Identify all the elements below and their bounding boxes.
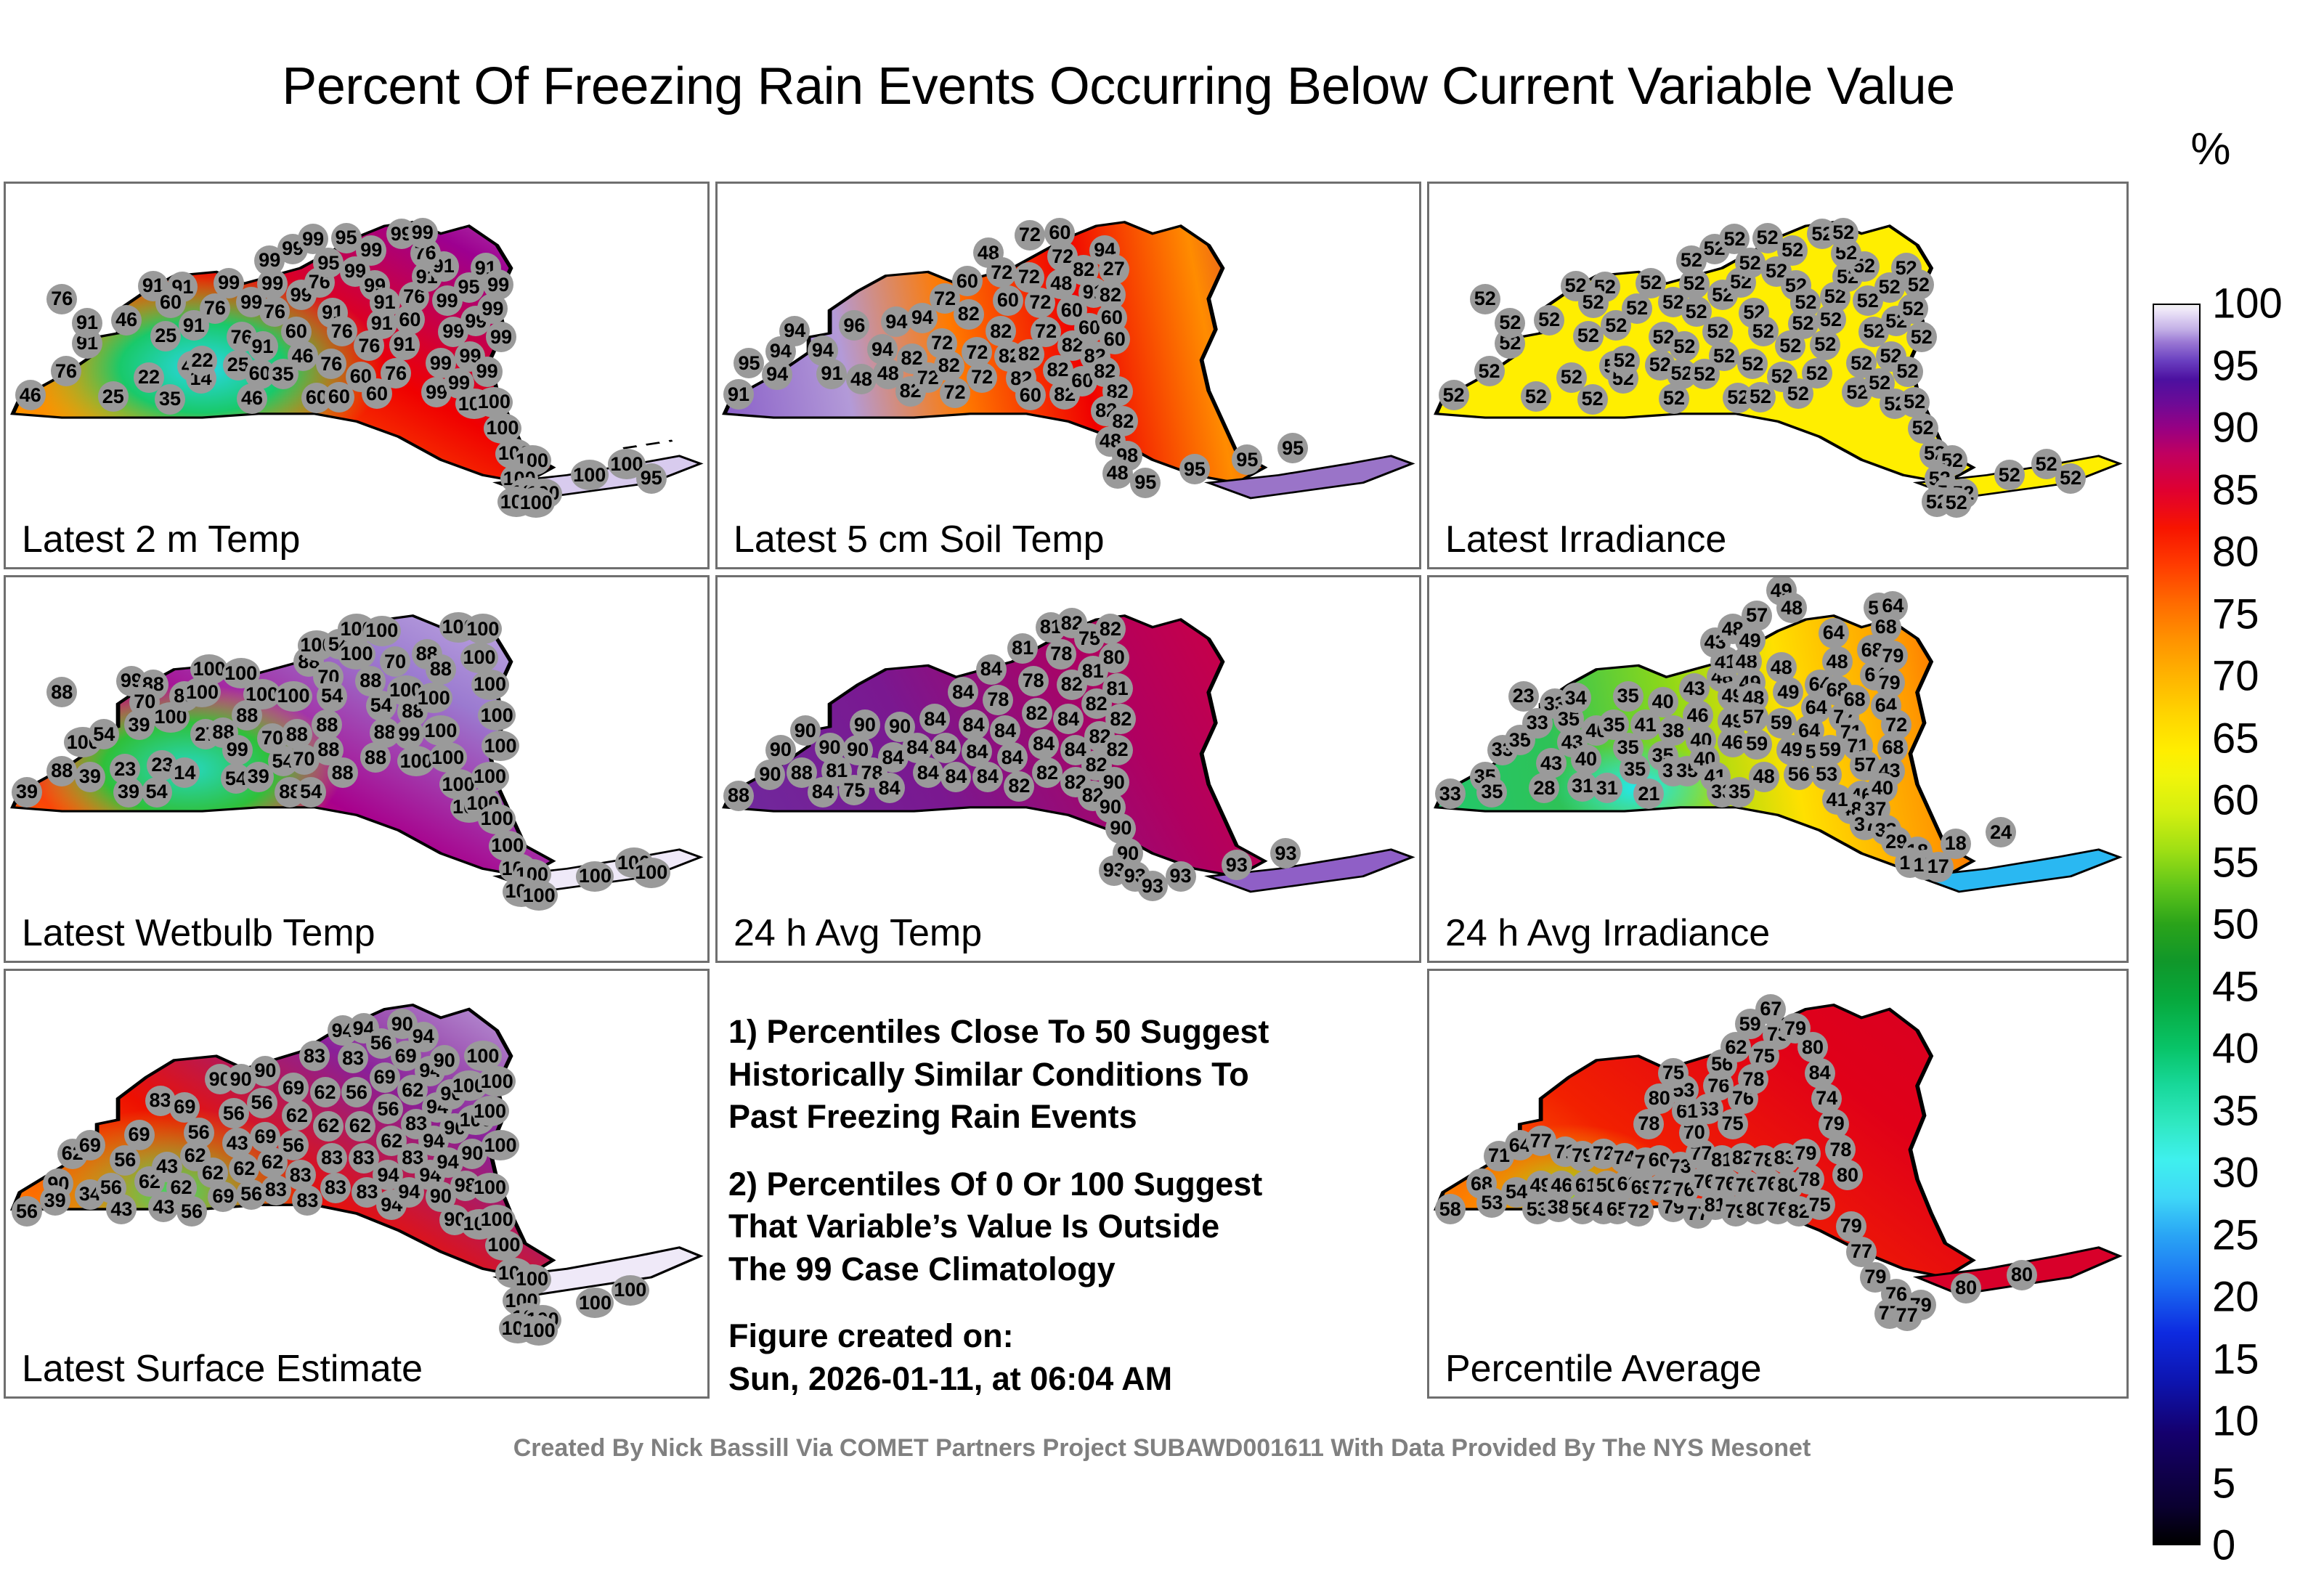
colorbar-unit-label: %: [2167, 123, 2254, 175]
map-canvas: 5868715364547749537146387961567250437463…: [1429, 971, 2126, 1396]
station-marker: 70: [380, 646, 410, 677]
colorbar-tick-0: 0: [2212, 1521, 2235, 1570]
station-marker: 76: [46, 284, 77, 314]
station-marker: 25: [150, 321, 181, 351]
station-marker: 59: [1766, 708, 1797, 739]
station-marker: 43: [106, 1194, 137, 1224]
station-marker: 84: [948, 677, 978, 707]
station-marker: 99: [486, 322, 516, 352]
station-marker: 94: [408, 1022, 439, 1052]
notes-block: 1) Percentiles Close To 50 Suggest Histo…: [728, 1011, 1411, 1400]
station-marker: 52: [1719, 224, 1750, 254]
station-marker: 52: [1748, 316, 1779, 346]
panel-label-latest-5cm-soil-temp: Latest 5 cm Soil Temp: [734, 518, 1105, 561]
station-marker: 84: [930, 733, 961, 763]
station-marker: 78: [1633, 1109, 1664, 1139]
station-marker: 100: [464, 614, 502, 644]
station-marker: 84: [972, 762, 1003, 792]
station-marker: 80: [1099, 643, 1129, 673]
station-marker: 84: [997, 742, 1028, 773]
station-marker: 100: [482, 731, 519, 761]
colorbar-tick-100: 100: [2212, 280, 2283, 328]
map-canvas: 8890908890849081759090788484908484848484…: [718, 577, 1419, 961]
station-marker: 100: [478, 804, 516, 834]
station-marker: 83: [292, 1185, 322, 1216]
station-marker: 17: [1923, 852, 1954, 882]
station-marker: 56: [341, 1077, 372, 1107]
station-marker: 77: [1892, 1301, 1922, 1331]
station-marker: 79: [1877, 640, 1908, 671]
station-marker: 100: [517, 487, 555, 518]
station-marker: 100: [471, 1096, 509, 1126]
station-marker: 52: [1577, 384, 1608, 415]
station-marker: 82: [1022, 698, 1052, 728]
panel-latest-wetbulb-temp: 3988100885439233939542314998870100882710…: [4, 575, 710, 963]
station-marker: 54: [142, 777, 172, 808]
station-marker: 43: [1679, 673, 1710, 704]
colorbar-tick-50: 50: [2212, 900, 2259, 949]
station-marker: 52: [1775, 330, 1805, 361]
station-marker: 99: [407, 218, 438, 248]
station-marker: 100: [482, 1130, 519, 1160]
station-marker: 93: [1222, 850, 1252, 880]
station-marker: 52: [1898, 293, 1928, 324]
station-marker: 68: [1871, 612, 1901, 643]
station-marker: 56: [219, 1098, 249, 1128]
station-marker: 62: [282, 1100, 312, 1131]
station-marker: 62: [345, 1111, 375, 1142]
station-marker: 56: [12, 1196, 42, 1227]
station-marker: 91: [248, 331, 278, 362]
station-marker: 52: [1709, 341, 1739, 371]
colorbar-tick-25: 25: [2212, 1211, 2259, 1259]
station-marker: 52: [1941, 487, 1972, 518]
colorbar-tick-30: 30: [2212, 1149, 2259, 1197]
station-marker: 75: [1805, 1189, 1835, 1220]
station-marker: 52: [2055, 463, 2086, 494]
colorbar-tick-45: 45: [2212, 962, 2259, 1011]
station-marker: 100: [471, 670, 509, 700]
station-marker: 48: [846, 364, 877, 394]
station-marker: 94: [779, 316, 810, 346]
station-marker: 80: [1832, 1160, 1863, 1190]
station-marker: 33: [1435, 778, 1466, 809]
panel-label-latest-wetbulb-temp: Latest Wetbulb Temp: [22, 911, 375, 955]
station-marker: 52: [1669, 331, 1699, 362]
station-marker: 82: [934, 351, 964, 381]
panel-latest-surface-estimate: 5690623969345643566962434362568369566262…: [4, 969, 710, 1399]
station-marker: 35: [155, 384, 185, 415]
station-marker: 60: [993, 285, 1023, 316]
station-marker: 100: [478, 1066, 516, 1097]
station-marker: 68: [1840, 685, 1870, 715]
station-marker: 60: [1100, 324, 1130, 354]
colorbar-tick-85: 85: [2212, 465, 2259, 514]
station-marker: 99: [394, 719, 424, 749]
station-marker: 100: [415, 683, 452, 713]
station-marker: 60: [952, 266, 983, 296]
station-marker: 100: [485, 1230, 523, 1261]
station-marker: 91: [72, 308, 102, 338]
page-title: Percent Of Freezing Rain Events Occurrin…: [0, 57, 2237, 116]
panel-24h-avg-temp: 8890908890849081759090788484908484848484…: [715, 575, 1421, 963]
station-marker: 78: [983, 685, 1013, 715]
station-marker: 82: [1095, 614, 1126, 644]
station-marker: 59: [1742, 729, 1772, 760]
station-marker: 100: [429, 742, 467, 773]
station-marker: 100: [576, 1288, 614, 1318]
station-marker: 95: [1130, 468, 1161, 498]
station-marker: 72: [940, 378, 970, 408]
colorbar-gradient: [2153, 304, 2201, 1545]
station-marker: 95: [1179, 454, 1210, 484]
station-marker: 56: [373, 1094, 403, 1124]
station-marker: 39: [113, 777, 144, 808]
station-marker: 22: [187, 346, 217, 376]
station-marker: 88: [426, 654, 456, 685]
station-marker: 100: [520, 1315, 558, 1346]
panel-24h-avg-irradiance: 3335333535233343283335433440314031353535…: [1427, 575, 2129, 963]
station-marker: 88: [360, 742, 391, 773]
station-marker: 72: [1015, 220, 1045, 251]
map-canvas: 9195949494949148969448828272949472827272…: [718, 184, 1419, 567]
panel-label-24h-avg-irradiance: 24 h Avg Irradiance: [1445, 911, 1770, 955]
station-marker: 76: [51, 356, 81, 386]
station-marker: 90: [429, 1045, 460, 1075]
station-marker: 52: [1676, 245, 1707, 276]
station-marker: 95: [734, 348, 764, 378]
station-marker: 69: [208, 1181, 238, 1212]
map-canvas: 3988100885439233939542314998870100882710…: [6, 577, 707, 961]
station-marker: 100: [571, 460, 609, 490]
station-marker: 82: [1105, 704, 1136, 734]
station-marker: 23: [1508, 681, 1539, 712]
colorbar-tick-5: 5: [2212, 1459, 2235, 1508]
map-canvas: 5252525252525252525252525252525252525252…: [1429, 184, 2126, 567]
station-marker: 94: [762, 359, 792, 390]
station-marker: 95: [1232, 444, 1262, 475]
station-marker: 52: [1573, 321, 1604, 351]
station-marker: 76: [354, 330, 384, 361]
station-marker: 100: [275, 681, 312, 712]
station-marker: 99: [477, 293, 508, 324]
figure-created-value: Sun, 2026-01-11, at 06:04 AM: [728, 1358, 1411, 1401]
colorbar-tick-75: 75: [2212, 590, 2259, 638]
station-marker: 80: [2007, 1260, 2037, 1290]
station-marker: 48: [1749, 762, 1779, 792]
station-marker: 58: [1435, 1194, 1466, 1224]
note1-line3: Past Freezing Rain Events: [728, 1096, 1411, 1139]
station-marker: 48: [1776, 593, 1807, 623]
station-marker: 84: [919, 704, 950, 734]
station-marker: 24: [1986, 817, 2016, 847]
station-marker: 54: [296, 777, 326, 808]
station-marker: 82: [1004, 771, 1034, 802]
station-marker: 25: [98, 381, 129, 412]
station-marker: 62: [313, 1111, 344, 1142]
station-marker: 64: [1819, 618, 1849, 648]
station-marker: 39: [75, 762, 105, 792]
station-marker: 39: [12, 777, 42, 808]
station-marker: 52: [1609, 346, 1640, 376]
station-marker: 84: [1028, 729, 1059, 760]
map-canvas: 5690623969345643566962434362568369566262…: [6, 971, 707, 1396]
station-marker: 81: [1102, 673, 1133, 704]
panel-label-percentile-average: Percentile Average: [1445, 1347, 1762, 1391]
note2-line1: 2) Percentiles Of 0 Or 100 Suggest: [728, 1163, 1411, 1206]
colorbar-tick-90: 90: [2212, 404, 2259, 452]
station-marker: 69: [278, 1073, 309, 1103]
station-marker: 69: [124, 1120, 155, 1150]
station-marker: 52: [1439, 380, 1469, 410]
station-marker: 91: [723, 379, 754, 410]
station-marker: 35: [1613, 681, 1644, 712]
station-marker: 35: [1476, 777, 1507, 808]
station-marker: 78: [1018, 666, 1049, 696]
note1-line1: 1) Percentiles Close To 50 Suggest: [728, 1011, 1411, 1054]
station-marker: 72: [967, 362, 997, 393]
station-marker: 46: [111, 305, 142, 335]
station-marker: 84: [940, 762, 971, 792]
station-marker: 100: [422, 715, 460, 746]
station-marker: 100: [612, 1275, 649, 1306]
panel-label-24h-avg-temp: 24 h Avg Temp: [734, 911, 982, 955]
panel-latest-5cm-soil-temp: 9195949494949148969448828272949472827272…: [715, 182, 1421, 569]
station-marker: 88: [328, 757, 358, 788]
station-marker: 84: [874, 773, 905, 803]
station-marker: 52: [1994, 460, 2025, 490]
colorbar-tick-15: 15: [2212, 1335, 2259, 1383]
station-marker: 40: [1571, 744, 1601, 775]
station-marker: 31: [1592, 773, 1622, 803]
station-marker: 62: [310, 1077, 341, 1107]
station-marker: 100: [478, 700, 516, 731]
station-marker: 76: [327, 316, 357, 346]
note2-line2: That Variable’s Value Is Outside: [728, 1205, 1411, 1248]
station-marker: 99: [472, 357, 503, 387]
station-marker: 21: [1633, 778, 1664, 809]
station-marker: 48: [1102, 458, 1133, 489]
station-marker: 34: [1561, 683, 1591, 713]
panel-latest-2m-temp: 4676917691252235462546142291916091762546…: [4, 182, 710, 569]
colorbar-tick-65: 65: [2212, 714, 2259, 762]
colorbar: % 10095908580757065605550454035302520151…: [2150, 145, 2324, 1423]
station-marker: 88: [723, 781, 754, 811]
station-marker: 84: [913, 757, 943, 788]
station-marker: 69: [75, 1130, 105, 1160]
station-marker: 46: [288, 341, 318, 371]
station-marker: 28: [1529, 773, 1559, 803]
colorbar-tick-40: 40: [2212, 1025, 2259, 1073]
station-marker: 95: [1277, 433, 1308, 463]
station-marker: 72: [986, 257, 1017, 288]
colorbar-tick-55: 55: [2212, 838, 2259, 887]
station-marker: 88: [46, 756, 77, 786]
credit-footer: Created By Nick Bassill Via COMET Partne…: [0, 1434, 2324, 1463]
station-marker: 49: [1773, 677, 1803, 707]
station-marker: 52: [1578, 288, 1609, 318]
station-marker: 39: [40, 1185, 70, 1216]
panel-percentile-average: 5868715364547749537146387961567250437463…: [1427, 969, 2129, 1399]
station-marker: 83: [299, 1041, 330, 1071]
station-marker: 82: [1102, 735, 1133, 765]
map-canvas: 3335333535233343283335433440314031353535…: [1429, 577, 2126, 961]
figure-created-label: Figure created on:: [728, 1315, 1411, 1358]
station-marker: 82: [1032, 757, 1063, 788]
station-marker: 93: [1166, 861, 1196, 892]
panel-label-latest-2m-temp: Latest 2 m Temp: [22, 518, 300, 561]
station-marker: 100: [471, 762, 509, 792]
station-marker: 100: [460, 643, 498, 673]
station-marker: 52: [1495, 308, 1525, 338]
station-marker: 100: [633, 858, 670, 888]
station-marker: 57: [1742, 601, 1772, 631]
station-marker: 83: [317, 1143, 347, 1174]
figure-root: Percent Of Freezing Rain Events Occurrin…: [0, 0, 2324, 1481]
station-marker: 52: [1470, 284, 1500, 314]
station-marker: 67: [1755, 994, 1786, 1025]
station-marker: 100: [471, 1173, 509, 1203]
colorbar-tick-80: 80: [2212, 528, 2259, 577]
station-marker: 99: [298, 224, 328, 254]
station-marker: 52: [1521, 381, 1551, 412]
station-marker: 90: [250, 1056, 280, 1086]
station-marker: 48: [1822, 646, 1853, 677]
station-marker: 60: [155, 288, 186, 318]
station-marker: 80: [1951, 1273, 1981, 1303]
station-marker: 83: [338, 1043, 368, 1073]
station-marker: 72: [1031, 317, 1061, 347]
station-marker: 99: [222, 735, 253, 765]
station-marker: 91: [816, 359, 847, 389]
ny-state-map: [1429, 577, 2126, 961]
station-marker: 95: [636, 463, 667, 494]
station-marker: 81: [1007, 633, 1038, 664]
station-marker: 88: [232, 700, 262, 731]
station-marker: 60: [1015, 380, 1046, 410]
colorbar-tick-95: 95: [2212, 341, 2259, 390]
notes-spacer: [728, 1290, 1411, 1315]
station-marker: 14: [169, 757, 200, 788]
station-marker: 100: [576, 861, 614, 892]
colorbar-tick-20: 20: [2212, 1273, 2259, 1322]
station-marker: 84: [1053, 704, 1084, 734]
station-marker: 56: [176, 1196, 207, 1227]
station-marker: 100: [520, 880, 558, 911]
map-canvas: 4676917691252235462546142291916091762546…: [6, 184, 707, 567]
station-marker: 72: [1014, 262, 1044, 293]
station-marker: 52: [1752, 223, 1783, 253]
station-marker: 93: [1270, 838, 1301, 869]
station-marker: 76: [381, 358, 411, 389]
station-marker: 46: [15, 380, 46, 410]
station-marker: 54: [317, 681, 347, 712]
station-marker: 78: [1046, 639, 1076, 670]
station-marker: 52: [1474, 356, 1505, 386]
station-marker: 52: [1534, 305, 1564, 335]
station-marker: 84: [976, 654, 1007, 685]
panel-label-latest-surface-estimate: Latest Surface Estimate: [22, 1347, 423, 1391]
station-marker: 56: [278, 1130, 309, 1160]
station-marker: 56: [247, 1088, 277, 1118]
colorbar-tick-60: 60: [2212, 776, 2259, 825]
station-marker: 41: [1822, 784, 1853, 815]
station-marker: 93: [1137, 871, 1168, 901]
note2-line3: The 99 Case Climatology: [728, 1248, 1411, 1291]
station-marker: 76: [316, 349, 346, 379]
station-marker: 82: [954, 299, 984, 330]
station-marker: 95: [331, 223, 362, 253]
station-marker: 83: [320, 1173, 351, 1203]
colorbar-tick-70: 70: [2212, 652, 2259, 701]
station-marker: 84: [959, 709, 989, 740]
station-marker: 96: [839, 310, 869, 341]
station-marker: 54: [89, 719, 119, 749]
notes-spacer: [728, 1139, 1411, 1163]
station-marker: 90: [850, 709, 880, 740]
colorbar-tick-35: 35: [2212, 1086, 2259, 1135]
station-marker: 88: [46, 677, 77, 707]
station-marker: 99: [254, 245, 285, 276]
station-marker: 52: [1906, 322, 1937, 352]
panel-latest-irradiance: 5252525252525252525252525252525252525252…: [1427, 182, 2129, 569]
station-marker: 52: [1737, 349, 1768, 379]
panel-label-latest-irradiance: Latest Irradiance: [1445, 518, 1726, 561]
note1-line2: Historically Similar Conditions To: [728, 1054, 1411, 1097]
station-marker: 52: [1893, 357, 1923, 387]
station-marker: 72: [1623, 1196, 1654, 1227]
station-marker: 52: [1828, 218, 1858, 248]
station-marker: 100: [338, 639, 375, 670]
station-marker: 57: [1738, 702, 1768, 733]
station-marker: 84: [990, 715, 1020, 746]
station-marker: 40: [1648, 687, 1678, 717]
station-marker: 52: [1802, 358, 1832, 389]
